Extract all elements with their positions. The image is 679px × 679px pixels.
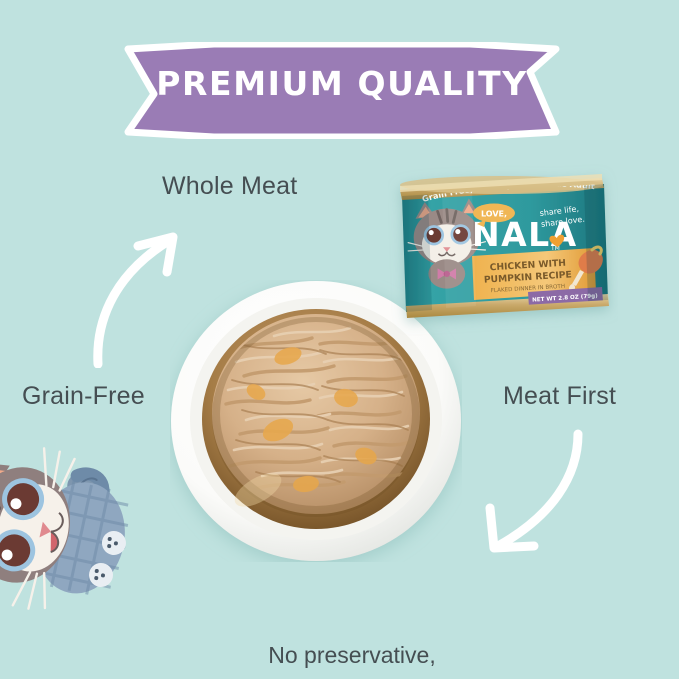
label-no-preservative: No preservative, artificial color, or fi… <box>187 580 517 679</box>
product-infographic: PREMIUM QUALITY Whole Meat Grain-Free Me… <box>0 0 679 679</box>
nala-cat-mascot <box>0 436 134 626</box>
label-no-preservative-line1: No preservative, <box>187 640 517 670</box>
curved-arrow-down-left-icon <box>466 424 606 564</box>
banner-title: PREMIUM QUALITY <box>118 64 566 104</box>
label-grain-free: Grain-Free <box>22 382 145 411</box>
nala-cat-food-can: Grain Free, Healthy & Delicious Adult Ca… <box>388 160 618 340</box>
premium-quality-banner: PREMIUM QUALITY <box>118 42 566 139</box>
label-meat-first: Meat First <box>503 382 616 411</box>
label-whole-meat: Whole Meat <box>162 172 297 201</box>
